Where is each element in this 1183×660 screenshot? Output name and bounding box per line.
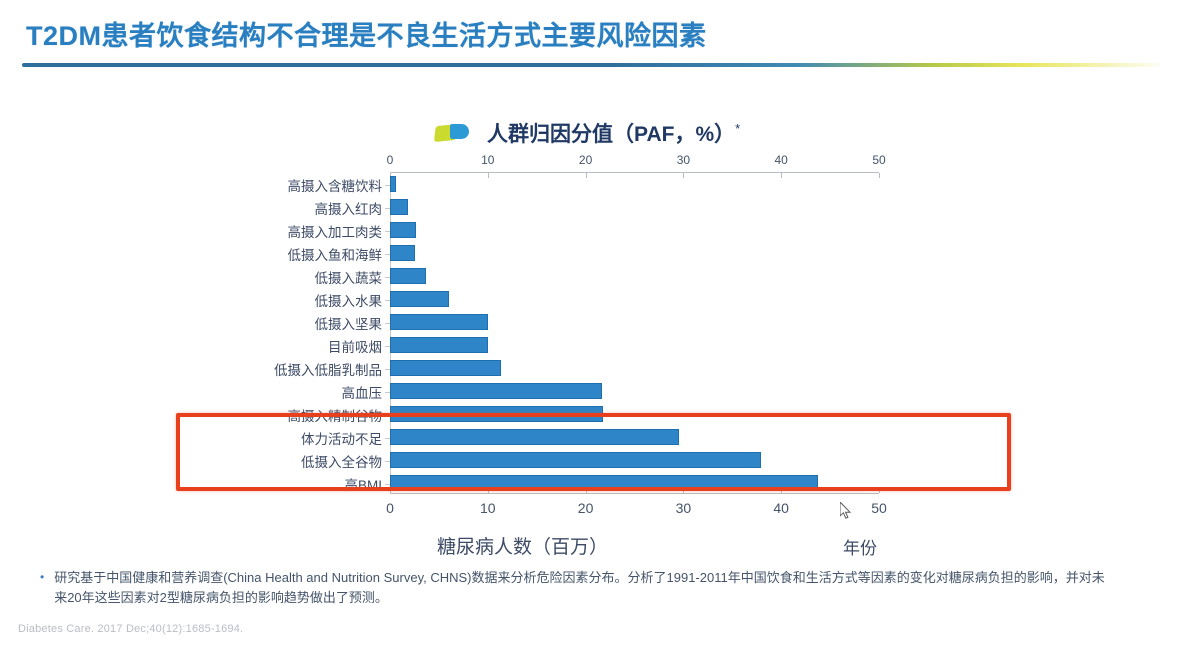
x-tick-label-top: 20 bbox=[579, 153, 592, 167]
chart-bar-row: 高摄入红肉 bbox=[390, 195, 879, 220]
chart-bar-row: 低摄入坚果 bbox=[390, 310, 879, 335]
chart-category-label: 高血压 bbox=[342, 382, 383, 402]
footnote-bullet-icon: • bbox=[40, 568, 44, 608]
chart-bar-row: 目前吸烟 bbox=[390, 333, 879, 358]
x-tick-label-top: 0 bbox=[387, 153, 394, 167]
x-tick-label-bottom: 10 bbox=[480, 500, 496, 516]
chart-bar-row: 高摄入加工肉类 bbox=[390, 218, 879, 243]
chart-bar bbox=[390, 383, 602, 399]
chart-bar-row: 低摄入鱼和海鲜 bbox=[390, 241, 879, 266]
chart-category-label: 高摄入含糖饮料 bbox=[288, 175, 383, 195]
chart-category-label: 低摄入鱼和海鲜 bbox=[288, 244, 383, 264]
title-underline-rule bbox=[22, 63, 1160, 67]
chart-category-label: 低摄入低脂乳制品 bbox=[274, 359, 382, 379]
x-tick-label-bottom: 0 bbox=[386, 500, 394, 516]
x-tick-label-top: 10 bbox=[481, 153, 494, 167]
x-tick-label-bottom: 40 bbox=[773, 500, 789, 516]
chart-bar-row: 低摄入低脂乳制品 bbox=[390, 356, 879, 381]
citation-text: Diabetes Care. 2017 Dec;40(12):1685-1694… bbox=[18, 623, 243, 635]
chart-bar bbox=[390, 314, 488, 330]
footnote-text: 研究基于中国健康和营养调查(China Health and Nutrition… bbox=[54, 568, 1110, 608]
x-tick-label-top: 30 bbox=[677, 153, 690, 167]
chart-bar bbox=[390, 268, 426, 284]
chart-container: 人群归因分值（PAF，%）* 0102030405001020304050高摄入… bbox=[0, 100, 1183, 560]
x-tick-label-bottom: 50 bbox=[871, 500, 887, 516]
chart-header: 人群归因分值（PAF，%）* bbox=[435, 118, 740, 148]
chart-bar bbox=[390, 360, 501, 376]
chart-bar bbox=[390, 291, 449, 307]
chart-category-label: 高摄入加工肉类 bbox=[288, 221, 383, 241]
x-tick-label-bottom: 20 bbox=[578, 500, 594, 516]
chart-category-label: 低摄入水果 bbox=[315, 290, 383, 310]
chart-title: 人群归因分值（PAF，%）* bbox=[487, 118, 740, 148]
chart-bar-row: 低摄入蔬菜 bbox=[390, 264, 879, 289]
chart-title-asterisk: * bbox=[735, 121, 740, 136]
page-title: T2DM患者饮食结构不合理是不良生活方式主要风险因素 bbox=[26, 14, 707, 53]
chart-bar-row: 高血压 bbox=[390, 379, 879, 404]
chart-bar-row: 高摄入含糖饮料 bbox=[390, 172, 879, 197]
chart-title-text: 人群归因分值（PAF，%） bbox=[487, 123, 735, 146]
chart-bar bbox=[390, 222, 416, 238]
chart-category-label: 低摄入蔬菜 bbox=[315, 267, 383, 287]
mouse-cursor-icon bbox=[840, 502, 852, 520]
x-tick-top bbox=[879, 173, 880, 178]
chart-category-label: 高摄入红肉 bbox=[315, 198, 383, 218]
x-tick-label-top: 50 bbox=[872, 153, 885, 167]
x-tick-label-top: 40 bbox=[775, 153, 788, 167]
red-highlight-box bbox=[176, 413, 1011, 491]
chart-bar bbox=[390, 337, 488, 353]
chart-bar bbox=[390, 199, 408, 215]
chart-bar bbox=[390, 245, 415, 261]
x-axis-caption-right: 年份 bbox=[843, 534, 877, 559]
chart-bar-row: 低摄入水果 bbox=[390, 287, 879, 312]
chart-bar bbox=[390, 176, 396, 192]
chart-category-label: 目前吸烟 bbox=[328, 336, 382, 356]
x-tick-label-bottom: 30 bbox=[676, 500, 692, 516]
footnote: • 研究基于中国健康和营养调查(China Health and Nutriti… bbox=[40, 568, 1110, 608]
x-axis-caption-left: 糖尿病人数（百万） bbox=[437, 532, 608, 559]
flag-blob-icon bbox=[435, 121, 475, 145]
chart-category-label: 低摄入坚果 bbox=[315, 313, 383, 333]
